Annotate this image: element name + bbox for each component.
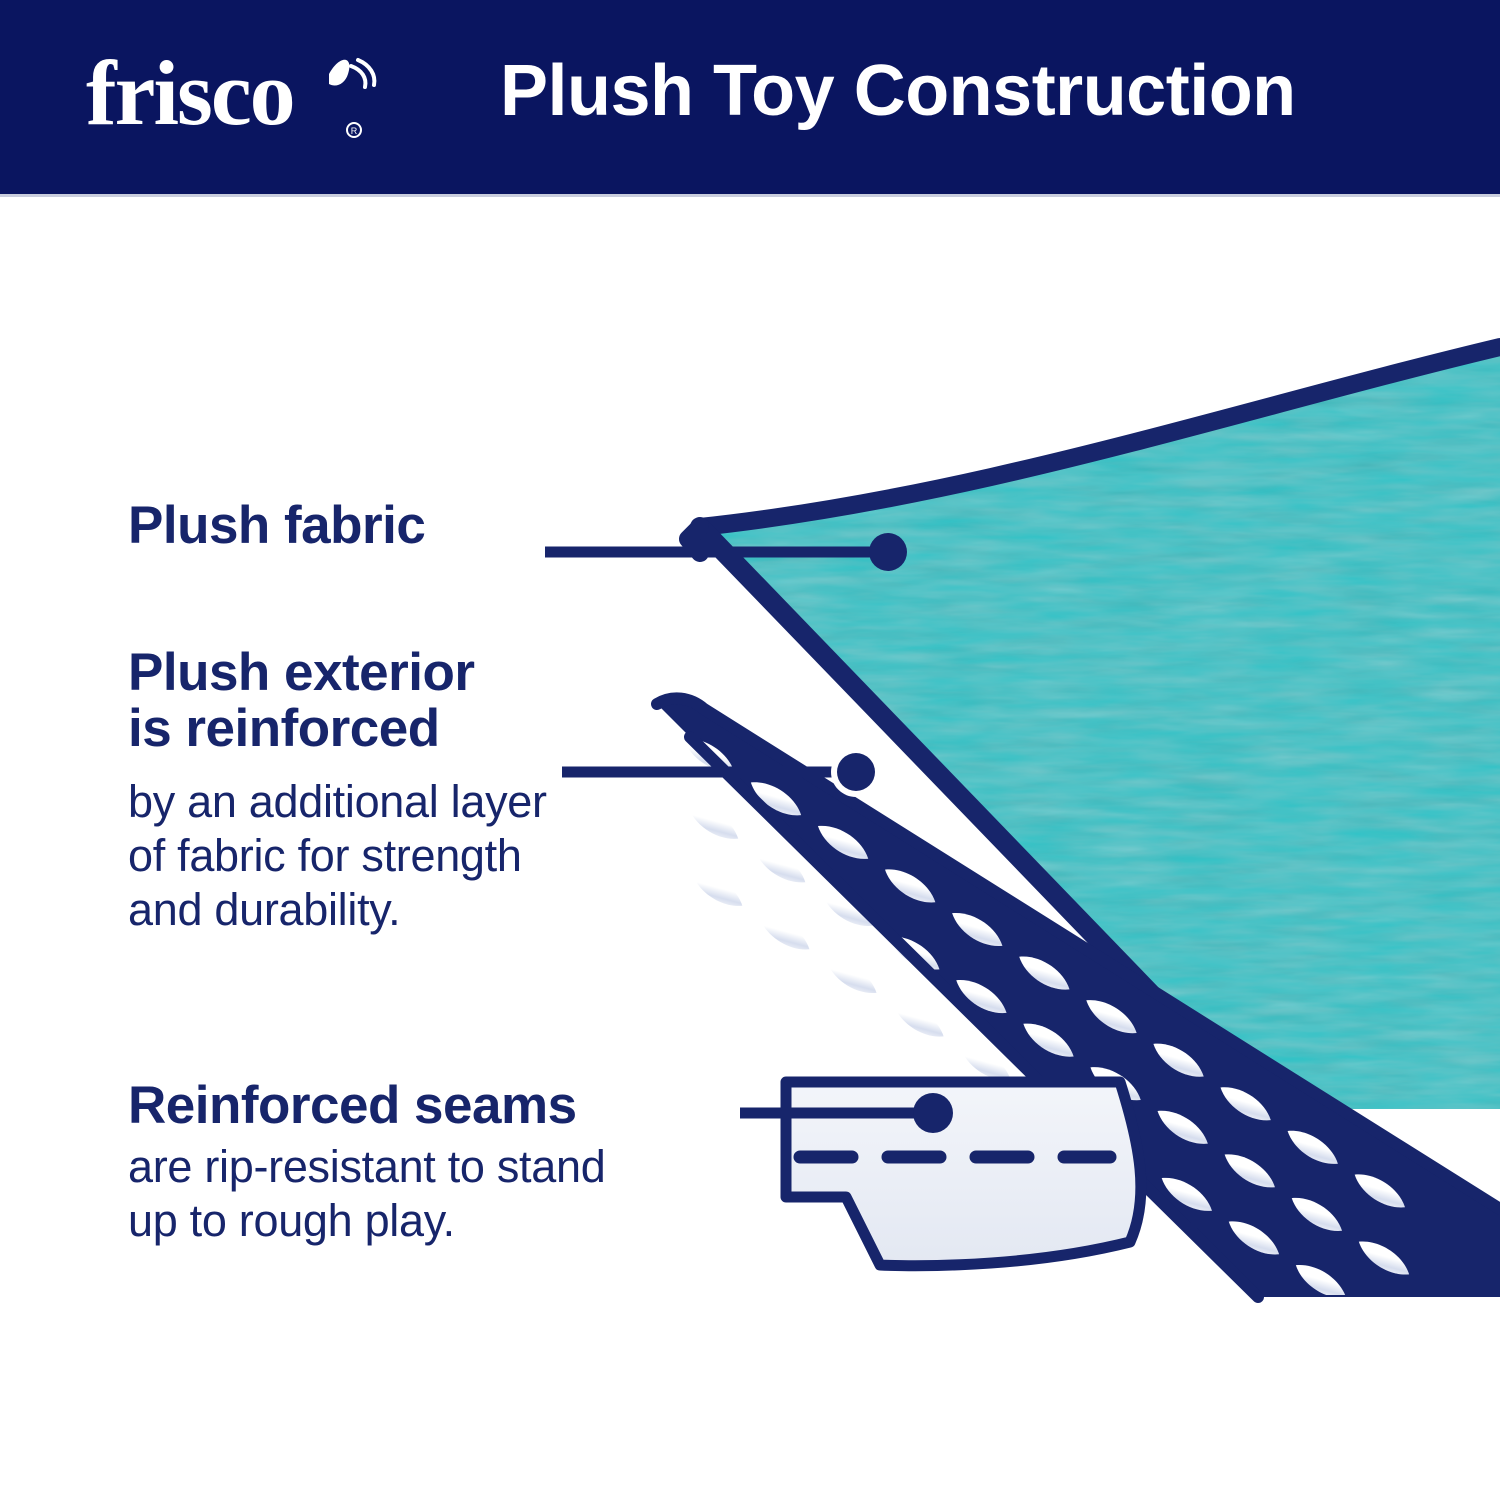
frisco-logo: frisco R — [86, 44, 386, 154]
svg-text:R: R — [351, 126, 358, 136]
callout-plush-exterior-body: by an additional layer of fabric for str… — [128, 775, 728, 937]
callout-reinforced-seams-body: are rip-resistant to stand up to rough p… — [128, 1140, 788, 1248]
callout-plush-fabric: Plush fabric — [128, 498, 598, 554]
infographic-page: frisco R Plush Toy Construction — [0, 0, 1500, 1500]
svg-text:frisco: frisco — [86, 44, 294, 144]
callout-reinforced-seams-title: Reinforced seams — [128, 1078, 788, 1134]
callout-plush-fabric-title: Plush fabric — [128, 498, 598, 554]
page-title: Plush Toy Construction — [500, 50, 1400, 132]
callout-plush-exterior: Plush exterior is reinforced by an addit… — [128, 645, 728, 937]
callout-reinforced-seams: Reinforced seams are rip-resistant to st… — [128, 1078, 788, 1248]
callout-plush-exterior-title: Plush exterior is reinforced — [128, 645, 728, 757]
marker-dot-plush-fabric — [869, 533, 907, 571]
header-bar: frisco R Plush Toy Construction — [0, 0, 1500, 197]
marker-dot-plush-exterior — [837, 753, 875, 791]
marker-dot-reinforced-seams — [913, 1093, 953, 1133]
